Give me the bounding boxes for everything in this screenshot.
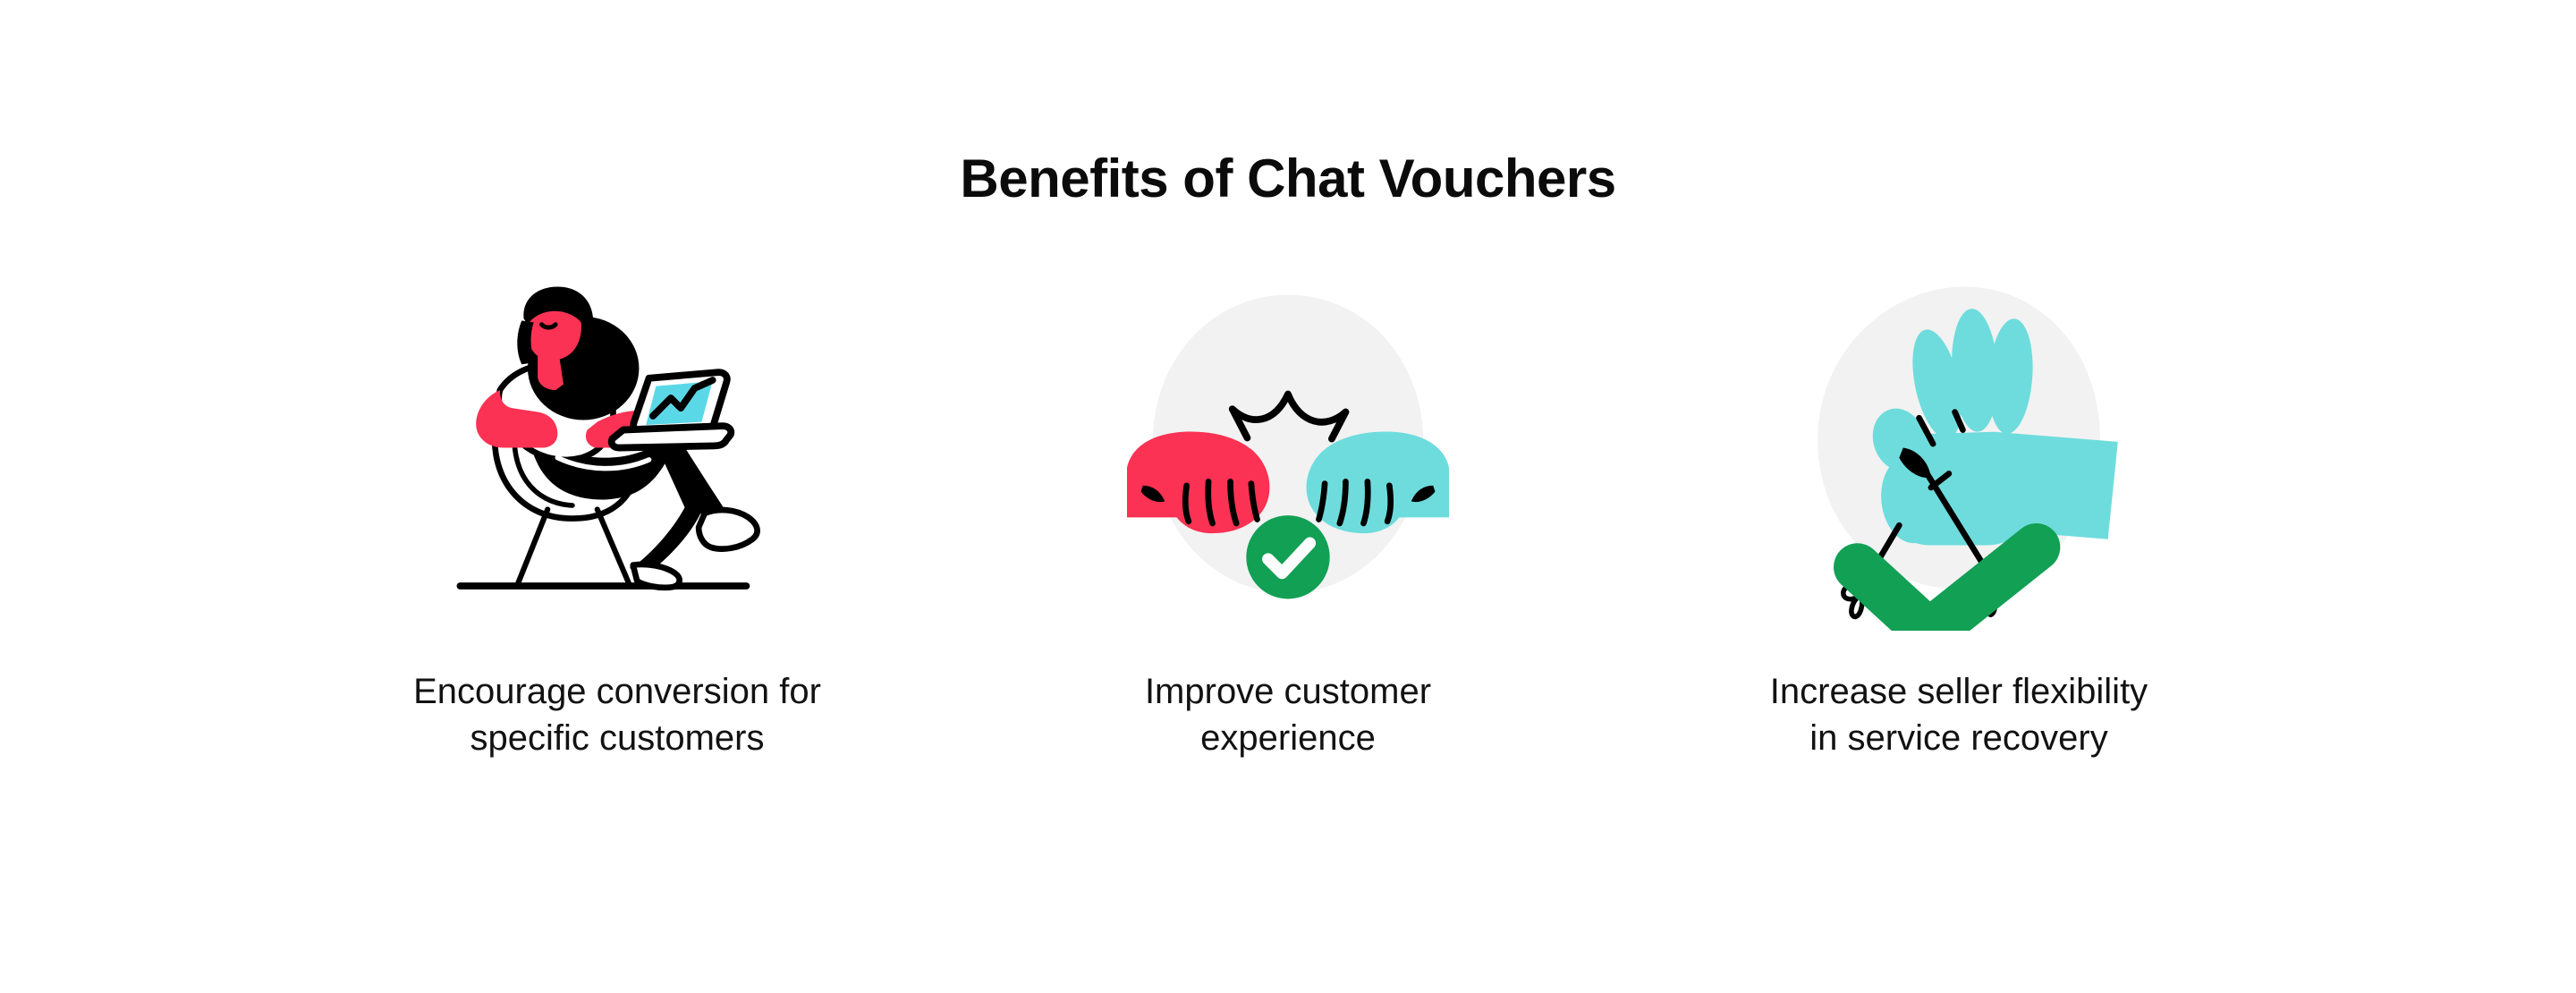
benefit-caption: Improve customer experience: [1145, 668, 1431, 761]
benefit-card-improve-experience: Improve customer experience: [953, 273, 1623, 761]
benefits-infographic: Benefits of Chat Vouchers: [0, 0, 2576, 993]
benefit-caption: Encourage conversion for specific custom…: [413, 668, 821, 761]
hand-puppeteering-checkmark-icon: [1771, 273, 2147, 631]
benefit-card-seller-flexibility: Increase seller flexibility in service r…: [1623, 273, 2294, 761]
caption-line-1: Increase seller flexibility: [1770, 668, 2148, 715]
caption-line-1: Encourage conversion for: [413, 668, 821, 715]
page-title: Benefits of Chat Vouchers: [960, 150, 1615, 207]
benefits-row: Encourage conversion for specific custom…: [0, 273, 2576, 761]
fist-bump-with-check-icon: [1100, 273, 1476, 631]
caption-line-1: Improve customer: [1145, 668, 1431, 715]
caption-line-2: experience: [1145, 715, 1431, 761]
benefit-caption: Increase seller flexibility in service r…: [1770, 668, 2148, 761]
benefit-card-encourage-conversion: Encourage conversion for specific custom…: [282, 273, 953, 761]
caption-line-2: specific customers: [413, 715, 821, 761]
woman-on-chair-with-laptop-icon: [429, 273, 805, 631]
caption-line-2: in service recovery: [1770, 715, 2148, 761]
